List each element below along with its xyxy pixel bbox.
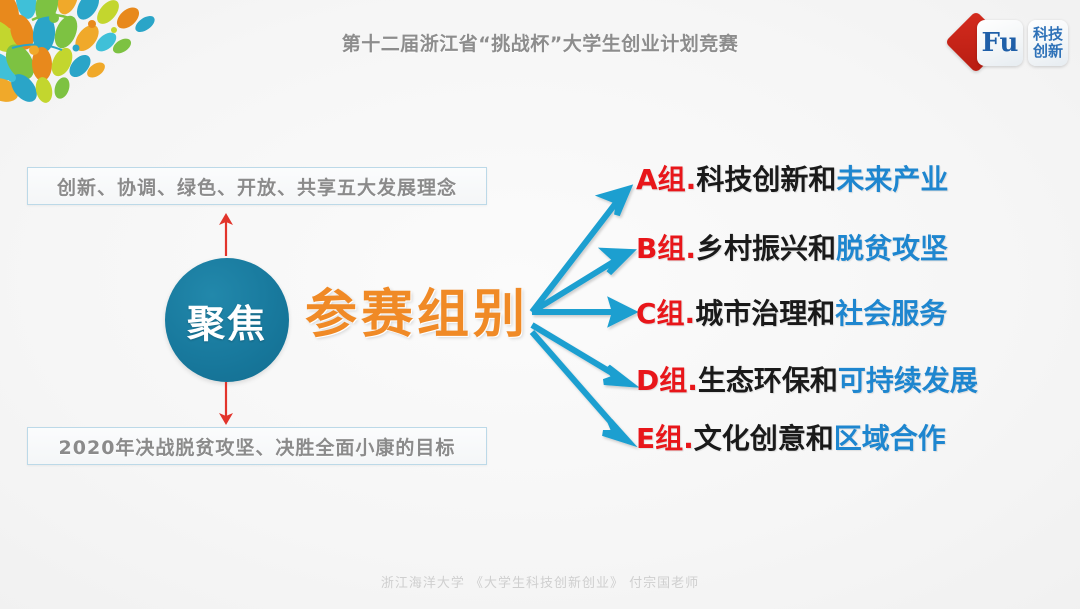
logo-badge-line1: 科技 — [1033, 26, 1063, 43]
group-mid-e: 文化创意和 — [694, 422, 834, 455]
group-code-b: B组. — [636, 232, 696, 265]
group-item-a: A组.科技创新和未来产业 — [636, 166, 948, 194]
group-item-d: D组.生态环保和可持续发展 — [636, 367, 978, 395]
focus-circle: 聚焦 — [165, 258, 289, 382]
fan-arrows-group — [520, 175, 650, 465]
group-item-e: E组.文化创意和区域合作 — [636, 425, 946, 453]
concept-box-top: 创新、协调、绿色、开放、共享五大发展理念 — [27, 167, 487, 205]
group-code-c: C组. — [636, 297, 695, 330]
red-down-arrow-icon — [205, 382, 247, 432]
brand-logo: Fu 科技 创新 — [950, 12, 1068, 74]
section-heading: 参赛组别 — [305, 272, 529, 347]
group-mid-a: 科技创新和 — [696, 163, 836, 196]
logo-badge-line2: 创新 — [1033, 43, 1063, 60]
red-up-arrow-icon — [205, 210, 247, 260]
logo-mark-text: Fu — [982, 30, 1019, 56]
group-tail-e: 区域合作 — [834, 422, 946, 455]
footer-credit: 浙江海洋大学 《大学生科技创新创业》 付宗国老师 — [0, 572, 1080, 591]
focus-circle-label: 聚焦 — [187, 293, 267, 348]
group-mid-d: 生态环保和 — [698, 364, 838, 397]
group-tail-a: 未来产业 — [836, 163, 948, 196]
group-tail-b: 脱贫攻坚 — [836, 232, 948, 265]
group-item-b: B组.乡村振兴和脱贫攻坚 — [636, 235, 948, 263]
group-tail-c: 社会服务 — [835, 297, 947, 330]
slide-canvas: 第十二届浙江省“挑战杯”大学生创业计划竞赛 Fu 科技 创新 创新、协调、绿色、… — [0, 0, 1080, 609]
group-mid-b: 乡村振兴和 — [696, 232, 836, 265]
group-code-d: D组. — [636, 364, 698, 397]
page-title: 第十二届浙江省“挑战杯”大学生创业计划竞赛 — [0, 29, 1080, 56]
logo-badge-tile: 科技 创新 — [1028, 20, 1068, 66]
logo-mark-tile: Fu — [977, 20, 1023, 66]
group-code-e: E组. — [636, 422, 694, 455]
group-tail-d: 可持续发展 — [838, 364, 978, 397]
group-mid-c: 城市治理和 — [695, 297, 835, 330]
concept-box-bottom: 2020年决战脱贫攻坚、决胜全面小康的目标 — [27, 427, 487, 465]
group-item-c: C组.城市治理和社会服务 — [636, 300, 947, 328]
group-code-a: A组. — [636, 163, 696, 196]
